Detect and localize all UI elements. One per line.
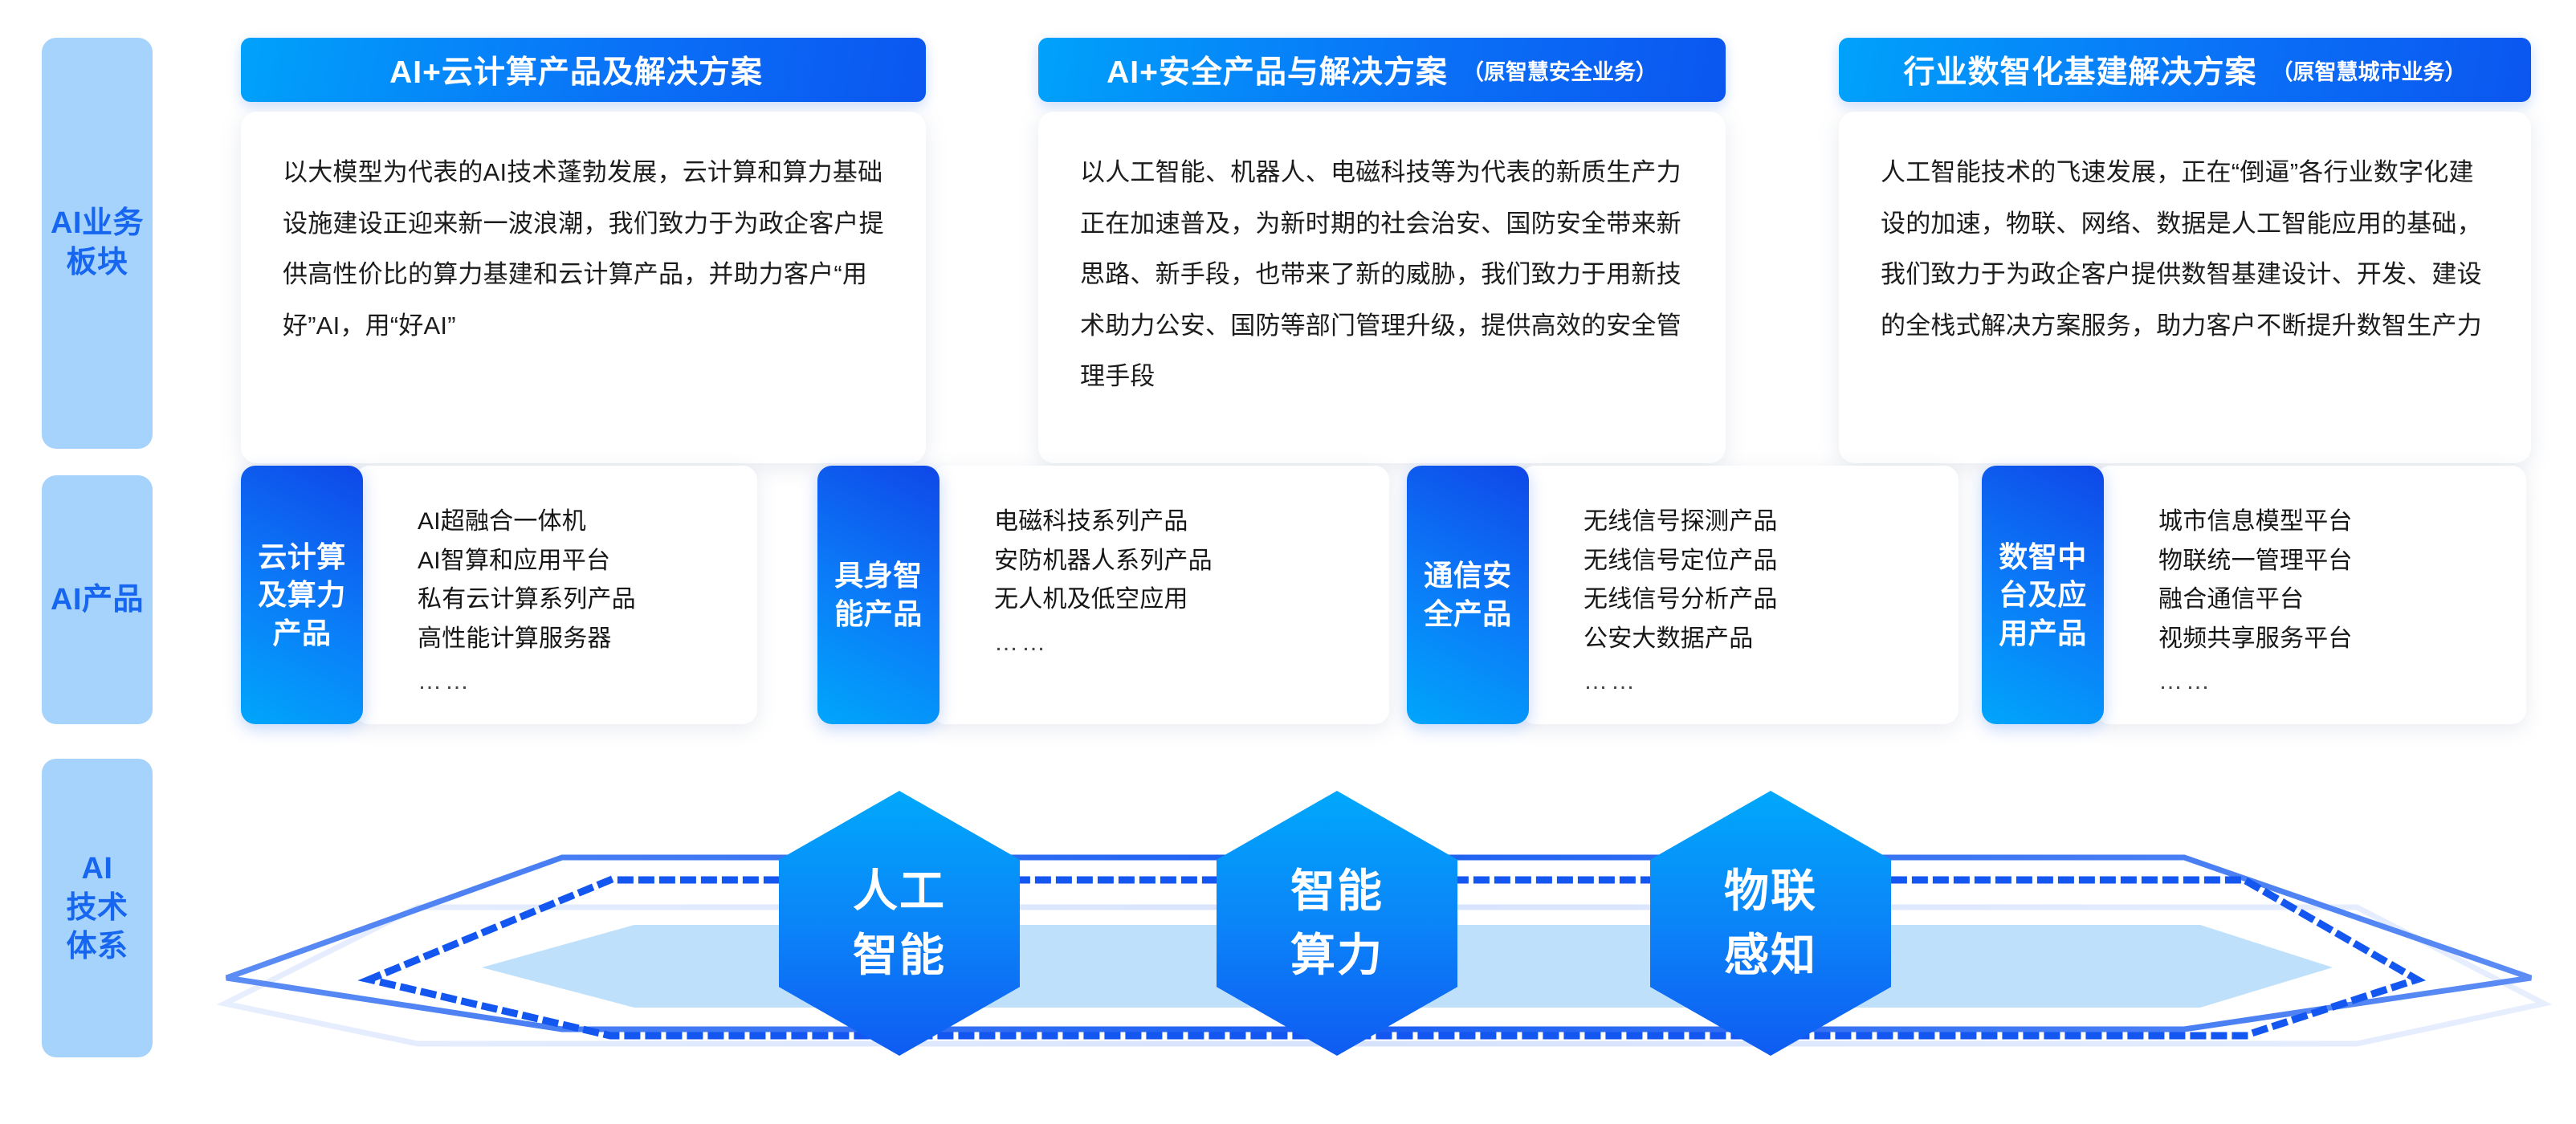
product-group-tab-label: 通信安 全产品 bbox=[1411, 556, 1525, 633]
tech-hexagon-badge[interactable]: 人工 智能 bbox=[779, 791, 1020, 1056]
business-block-title: AI+安全产品与解决方案 bbox=[1107, 47, 1448, 92]
product-item: 高性能计算服务器 bbox=[418, 620, 738, 659]
product-group-tab[interactable]: 数智中 台及应 用产品 bbox=[1982, 466, 2104, 724]
product-group-tab-label: 数智中 台及应 用产品 bbox=[1986, 538, 2100, 653]
rail-label-text: AI业务 板块 bbox=[51, 204, 144, 282]
product-group-tab-label: 云计算 及算力 产品 bbox=[245, 538, 359, 653]
tech-hexagon-line-2: 算力 bbox=[1290, 923, 1384, 988]
tech-hexagon-badge[interactable]: 物联 感知 bbox=[1650, 791, 1891, 1056]
tech-hexagon-badge[interactable]: 智能 算力 bbox=[1217, 791, 1457, 1056]
tech-hexagon-line-1: 物联 bbox=[1724, 859, 1817, 923]
product-more-ellipsis: …… bbox=[994, 629, 1370, 657]
tech-hexagon-line-2: 智能 bbox=[853, 923, 946, 988]
product-item: 无线信号探测产品 bbox=[1584, 503, 1939, 542]
product-item: 无人机及低空应用 bbox=[994, 580, 1370, 620]
rail-label-text: AI 技术 体系 bbox=[66, 849, 128, 967]
business-block-subtitle: （原智慧城市业务） bbox=[2272, 55, 2467, 86]
rail-label-ai-products: AI产品 bbox=[42, 475, 153, 724]
product-group-tab[interactable]: 云计算 及算力 产品 bbox=[241, 466, 363, 724]
infographic-root: AI业务 板块 AI产品 AI 技术 体系 AI+云计算产品及解决方案 以大模型… bbox=[0, 0, 2576, 1124]
product-item: 公安大数据产品 bbox=[1584, 620, 1939, 659]
product-group: 通信安 全产品 无线信号探测产品 无线信号定位产品 无线信号分析产品 公安大数据… bbox=[1407, 466, 1958, 724]
business-block-title: AI+云计算产品及解决方案 bbox=[389, 47, 763, 92]
business-block-title: 行业数智化基建解决方案 bbox=[1903, 47, 2256, 92]
product-item: 城市信息模型平台 bbox=[2158, 503, 2507, 542]
business-block-paragraph: 以大模型为代表的AI技术蓬勃发展，云计算和算力基础设施建设正迎来新一波浪潮，我们… bbox=[283, 147, 887, 351]
product-group-tab[interactable]: 具身智 能产品 bbox=[817, 466, 940, 724]
tech-hexagon-line-1: 人工 bbox=[853, 859, 946, 923]
product-item: 物联统一管理平台 bbox=[2158, 542, 2507, 581]
product-item: 视频共享服务平台 bbox=[2158, 620, 2507, 659]
tech-hexagon-line-2: 感知 bbox=[1724, 923, 1817, 988]
product-more-ellipsis: …… bbox=[2158, 668, 2507, 695]
product-group-card: 城市信息模型平台 物联统一管理平台 融合通信平台 视频共享服务平台 …… bbox=[2096, 466, 2526, 724]
product-group: 数智中 台及应 用产品 城市信息模型平台 物联统一管理平台 融合通信平台 视频共… bbox=[1982, 466, 2526, 724]
business-block-paragraph: 人工智能技术的飞速发展，正在“倒逼”各行业数字化建设的加速，物联、网络、数据是人… bbox=[1881, 147, 2492, 351]
product-group-card: 无线信号探测产品 无线信号定位产品 无线信号分析产品 公安大数据产品 …… bbox=[1521, 466, 1958, 724]
business-block-header[interactable]: AI+云计算产品及解决方案 bbox=[241, 38, 926, 102]
rail-label-text: AI产品 bbox=[51, 580, 144, 620]
business-block-body: 人工智能技术的飞速发展，正在“倒逼”各行业数字化建设的加速，物联、网络、数据是人… bbox=[1839, 112, 2531, 463]
business-block-header[interactable]: 行业数智化基建解决方案 （原智慧城市业务） bbox=[1839, 38, 2531, 102]
business-block-header[interactable]: AI+安全产品与解决方案 （原智慧安全业务） bbox=[1038, 38, 1726, 102]
business-block-paragraph: 以人工智能、机器人、电磁科技等为代表的新质生产力正在加速普及，为新时期的社会治安… bbox=[1080, 147, 1687, 402]
product-item: 融合通信平台 bbox=[2158, 580, 2507, 620]
product-item: 无线信号分析产品 bbox=[1584, 580, 1939, 620]
product-item: AI智算和应用平台 bbox=[418, 542, 738, 581]
product-item: 无线信号定位产品 bbox=[1584, 542, 1939, 581]
business-block-body: 以大模型为代表的AI技术蓬勃发展，云计算和算力基础设施建设正迎来新一波浪潮，我们… bbox=[241, 112, 926, 463]
product-group: 云计算 及算力 产品 AI超融合一体机 AI智算和应用平台 私有云计算系列产品 … bbox=[241, 466, 757, 724]
product-more-ellipsis: …… bbox=[1584, 668, 1939, 695]
product-item: 安防机器人系列产品 bbox=[994, 542, 1370, 581]
product-group-card: 电磁科技系列产品 安防机器人系列产品 无人机及低空应用 …… bbox=[931, 466, 1389, 724]
product-item: 电磁科技系列产品 bbox=[994, 503, 1370, 542]
tech-hexagon-line-1: 智能 bbox=[1290, 859, 1384, 923]
product-group: 具身智 能产品 电磁科技系列产品 安防机器人系列产品 无人机及低空应用 …… bbox=[817, 466, 1389, 724]
rail-label-ai-tech: AI 技术 体系 bbox=[42, 759, 153, 1057]
rail-label-ai-business: AI业务 板块 bbox=[42, 38, 153, 449]
product-item: AI超融合一体机 bbox=[418, 503, 738, 542]
product-more-ellipsis: …… bbox=[418, 668, 738, 695]
product-group-card: AI超融合一体机 AI智算和应用平台 私有云计算系列产品 高性能计算服务器 …… bbox=[355, 466, 757, 724]
business-block-body: 以人工智能、机器人、电磁科技等为代表的新质生产力正在加速普及，为新时期的社会治安… bbox=[1038, 112, 1726, 463]
product-item: 私有云计算系列产品 bbox=[418, 580, 738, 620]
product-group-tab[interactable]: 通信安 全产品 bbox=[1407, 466, 1529, 724]
product-group-tab-label: 具身智 能产品 bbox=[821, 556, 935, 633]
business-block-subtitle: （原智慧安全业务） bbox=[1462, 55, 1657, 86]
